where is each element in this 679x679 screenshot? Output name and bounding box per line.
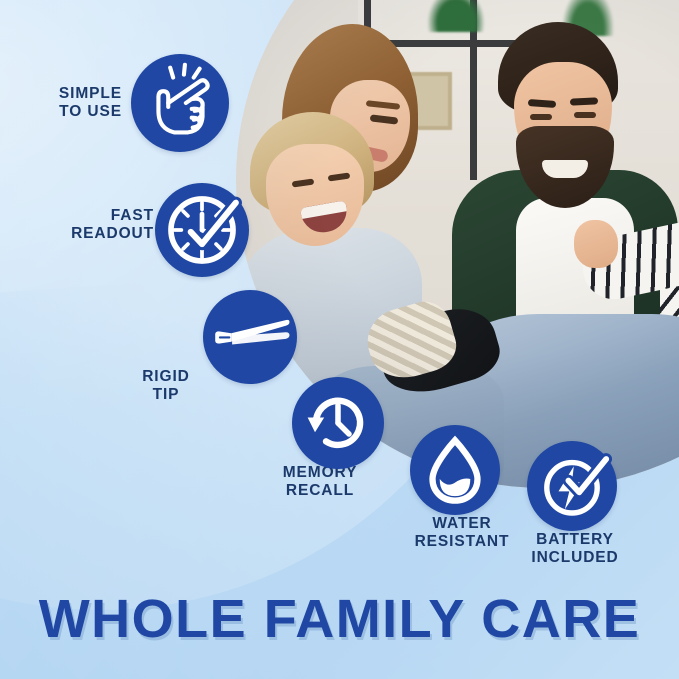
feature-label-simple-to-use: SIMPLE TO USE	[30, 85, 122, 121]
feature-label-memory-recall: MEMORY RECALL	[262, 464, 378, 500]
clock-check-icon	[155, 183, 249, 277]
clock-history-icon	[292, 377, 384, 469]
feature-label-water-resistant: WATER RESISTANT	[395, 515, 529, 551]
page-title: WHOLE FAMILY CARE	[0, 588, 679, 650]
feature-label-rigid-tip: RIGID TIP	[118, 368, 214, 404]
battery-bolt-check-icon	[527, 441, 617, 531]
poster-canvas: SIMPLE TO USE FAST READOUT	[0, 0, 679, 679]
feature-label-battery-included: BATTERY INCLUDED	[511, 531, 639, 567]
thermometer-tip-icon	[203, 290, 297, 384]
feature-label-fast-readout: FAST READOUT	[58, 207, 154, 243]
water-droplet-icon	[410, 425, 500, 515]
tapping-hand-icon	[131, 54, 229, 152]
